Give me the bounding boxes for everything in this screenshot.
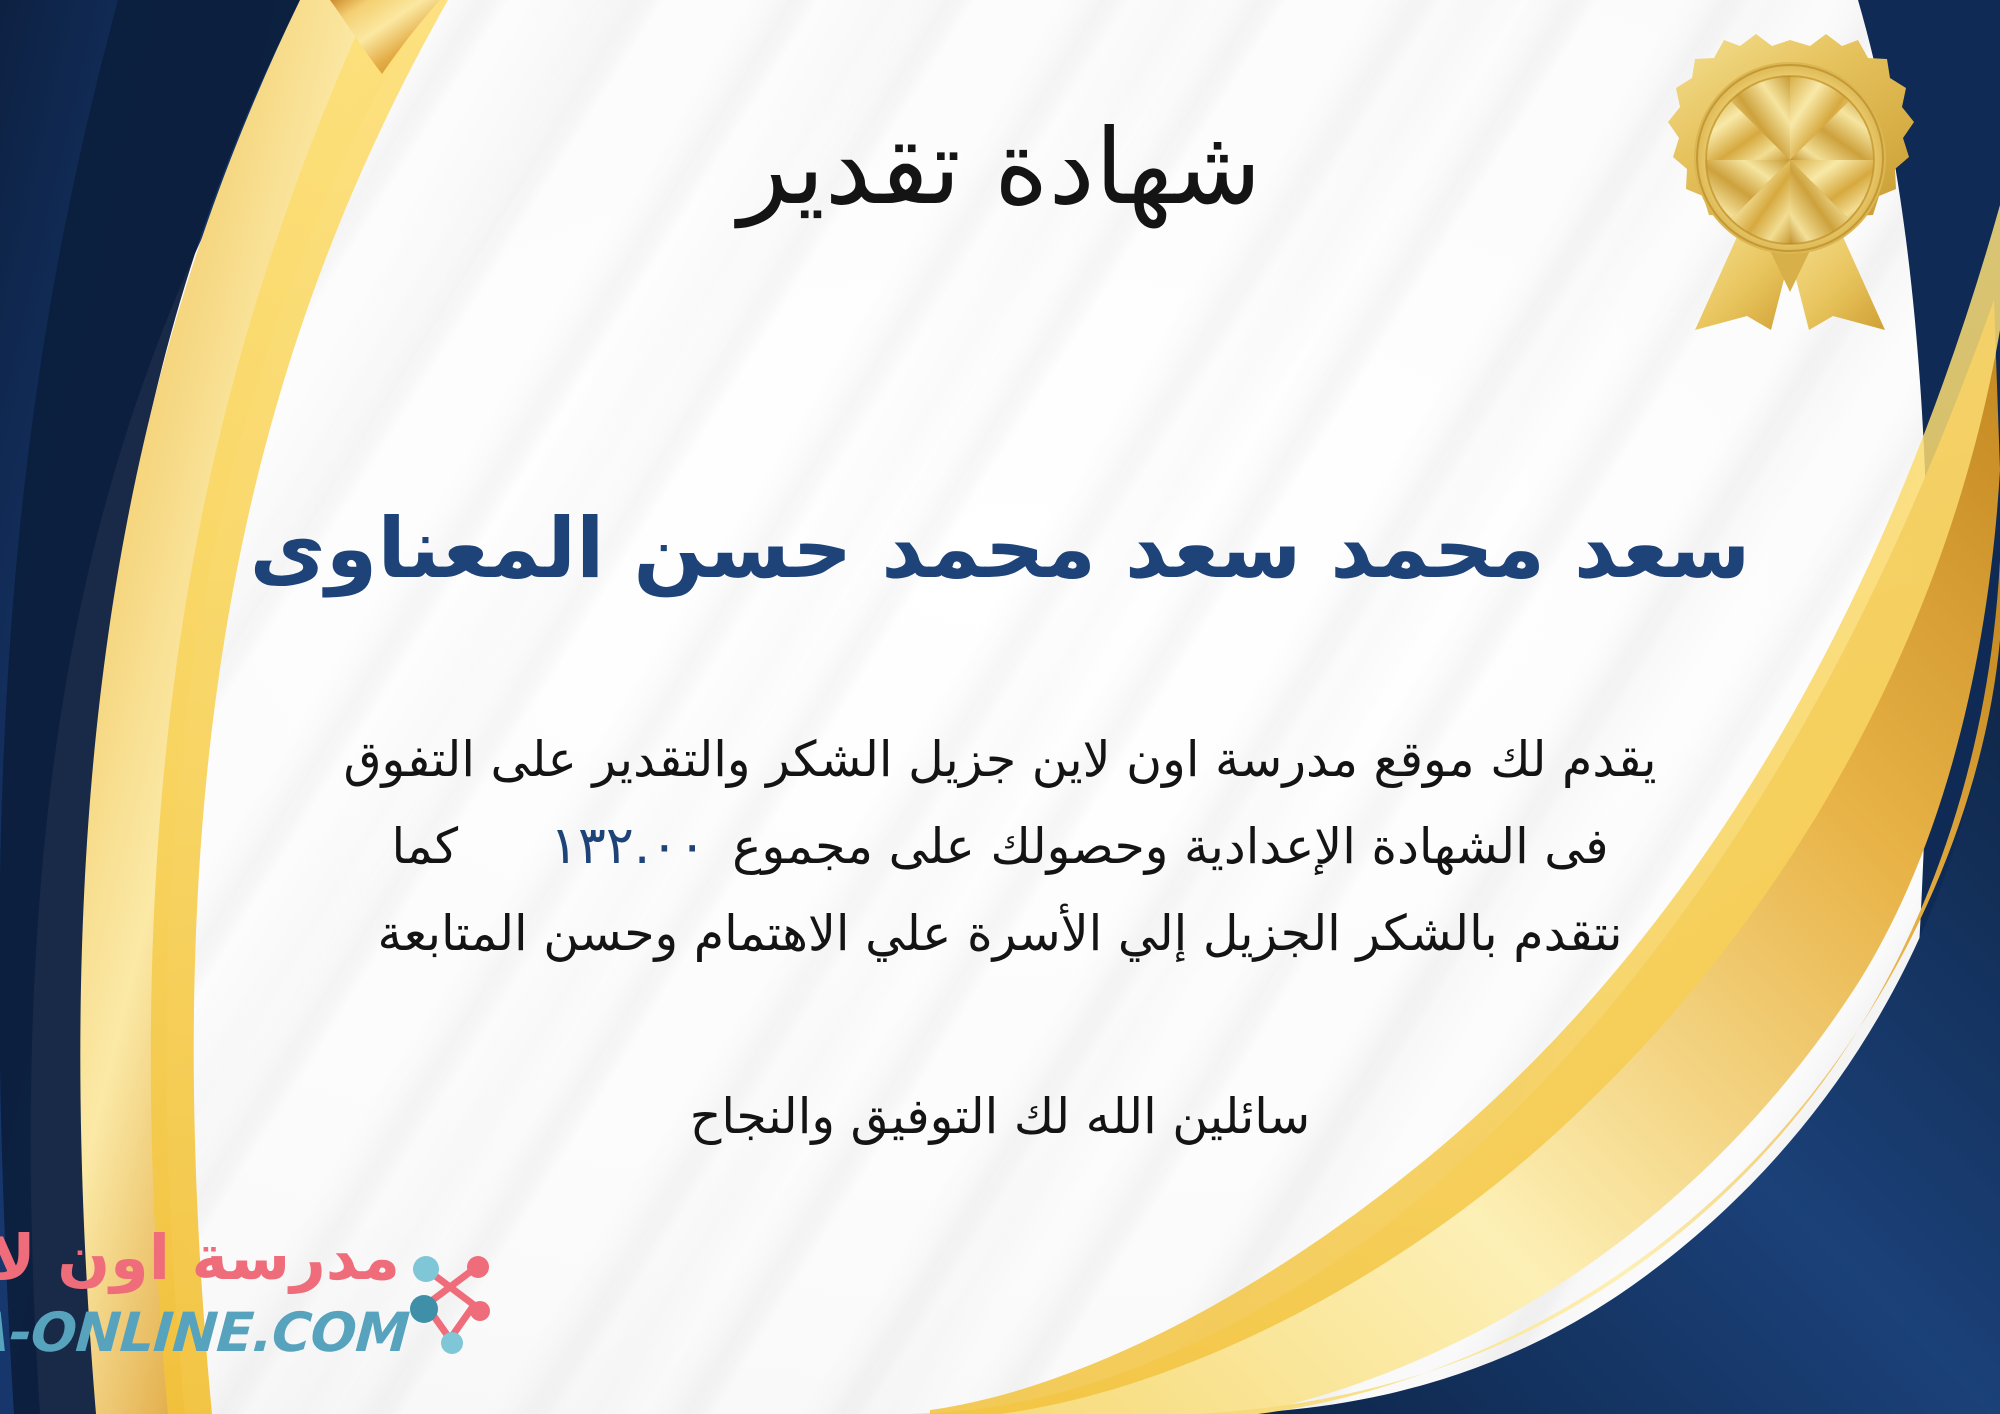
- body-line-2-right: فى الشهادة الإعدادية وحصولك على مجموع: [732, 818, 1608, 875]
- network-nodes-icon: [400, 1239, 500, 1359]
- brand-logo[interactable]: مدرسة اون لاين MADRSA-ONLINE.COM: [26, 1215, 496, 1390]
- closing-wish: سائلين الله لك التوفيق والنجاح: [60, 1088, 1940, 1145]
- brand-name-arabic: مدرسة اون لاين: [0, 1221, 400, 1294]
- total-score-value: ١٣٢.٠٠: [524, 816, 732, 876]
- body-line-1: يقدم لك موقع مدرسة اون لاين جزيل الشكر و…: [60, 718, 1940, 802]
- body-line-2-left: كما: [391, 818, 458, 875]
- certificate-body: يقدم لك موقع مدرسة اون لاين جزيل الشكر و…: [60, 718, 1940, 976]
- brand-name-english: MADRSA-ONLINE.COM: [0, 1301, 410, 1364]
- body-line-3: نتقدم بالشكر الجزيل إلي الأسرة علي الاهت…: [60, 892, 1940, 976]
- page-title: شهادة تقدير: [0, 108, 2000, 228]
- certificate-page: شهادة تقدير سعد محمد سعد محمد حسن المعنا…: [0, 0, 2000, 1414]
- student-name: سعد محمد سعد محمد حسن المعناوى: [40, 498, 1960, 599]
- body-line-2: فى الشهادة الإعدادية وحصولك على مجموع١٣٢…: [60, 802, 1940, 891]
- certificate-content: شهادة تقدير سعد محمد سعد محمد حسن المعنا…: [0, 0, 2000, 1414]
